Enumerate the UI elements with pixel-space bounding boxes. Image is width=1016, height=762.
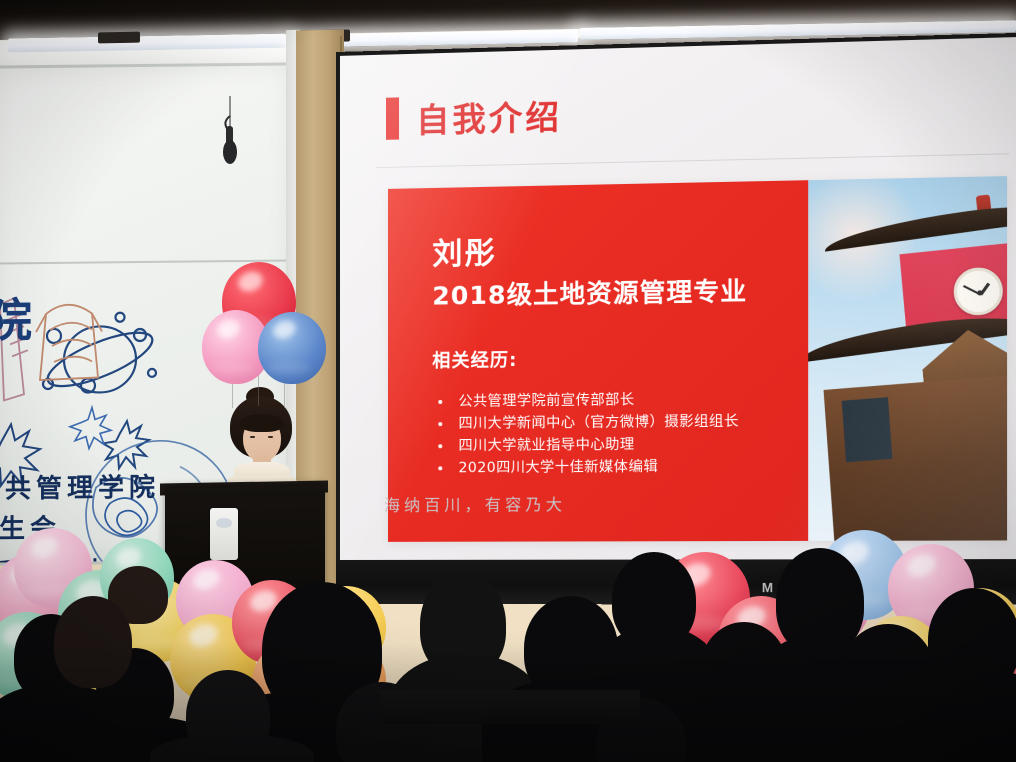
slide-title-row: 自我介绍	[386, 90, 562, 143]
eye-right	[268, 436, 273, 438]
experience-heading: 相关经历:	[432, 342, 808, 373]
slide-divider	[376, 153, 1009, 168]
front-desk	[380, 690, 640, 724]
fringe	[240, 414, 284, 432]
ceiling-light-fixture-1	[98, 32, 140, 44]
blue-balloon	[258, 312, 326, 384]
photo-scene: 院 公共管理学院 学生会 素质拓展中心 自我介绍 刘彤 2018	[0, 0, 1016, 762]
profile-red-panel: 刘彤 2018级土地资源管理专业 相关经历: 公共管理学院前宣传部部长 四川大学…	[388, 180, 808, 542]
profile-card: 刘彤 2018级土地资源管理专业 相关经历: 公共管理学院前宣传部部长 四川大学…	[388, 176, 1007, 542]
whiteboard-line-1: 公共管理学院	[0, 467, 160, 506]
presenter-name: 刘彤	[432, 231, 808, 272]
list-item: 2020四川大学十佳新媒体编辑	[432, 455, 808, 480]
microphone-icon	[222, 96, 238, 188]
list-item: 四川大学新闻中心（官方微博）摄影组组长	[432, 409, 808, 435]
audience-layer	[0, 562, 1016, 762]
experience-list: 公共管理学院前宣传部部长 四川大学新闻中心（官方微博）摄影组组长 四川大学就业指…	[432, 387, 808, 480]
building-window	[842, 397, 893, 462]
presentation-screen[interactable]: 自我介绍 刘彤 2018级土地资源管理专业 相关经历: 公共管理学院前宣传部部长…	[336, 32, 1016, 605]
audience-head	[54, 596, 132, 688]
hanging-microphone	[222, 96, 238, 188]
slide-canvas: 自我介绍 刘彤 2018级土地资源管理专业 相关经历: 公共管理学院前宣传部部长…	[340, 36, 1016, 560]
pagoda-photo	[808, 176, 1007, 541]
slide-title: 自我介绍	[416, 90, 562, 142]
clock-center	[977, 290, 982, 295]
whiteboard-line-0: 院	[0, 284, 33, 350]
eye-left	[250, 436, 255, 438]
list-item: 公共管理学院前宣传部部长	[432, 387, 808, 413]
slide-footer-motto: 海纳百川，有容乃大	[384, 491, 566, 516]
presenter-major: 2018级土地资源管理专业	[432, 270, 808, 312]
podium-bottle	[210, 508, 238, 560]
title-accent-bar	[386, 97, 399, 139]
list-item: 四川大学就业指导中心助理	[432, 432, 808, 457]
